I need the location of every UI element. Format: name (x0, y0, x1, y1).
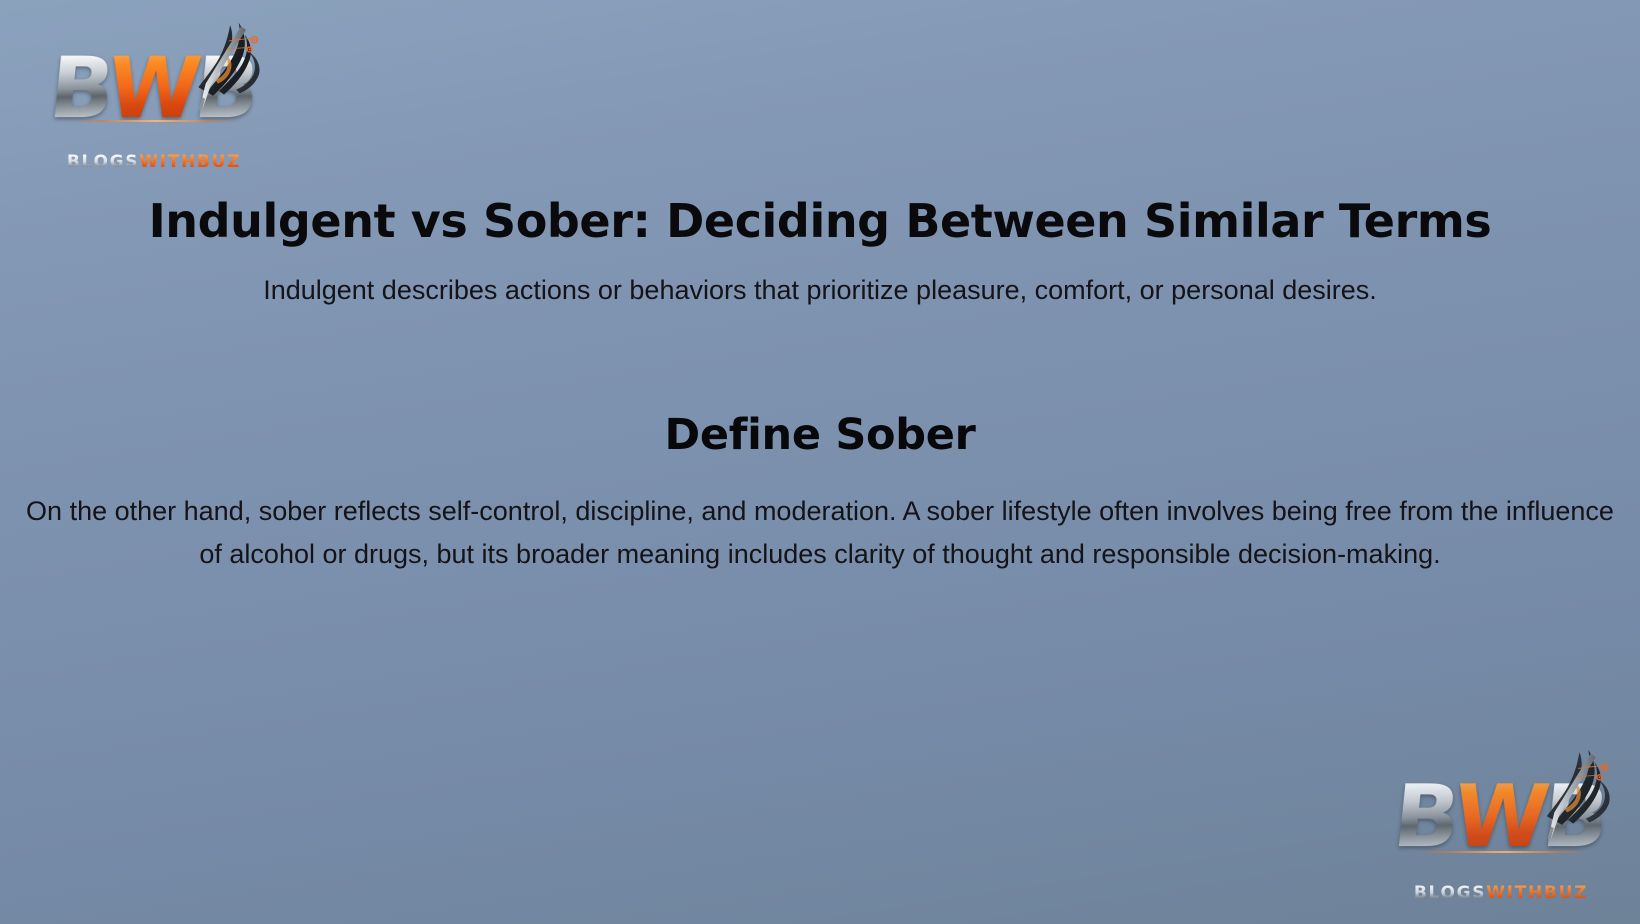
page-subtitle: Indulgent describes actions or behaviors… (70, 272, 1570, 308)
watermark-wordmark-withbuz: WITHBUZ (1486, 885, 1588, 902)
bwb-wordmark: BLOGSWITHBUZ (46, 147, 262, 178)
watermark-wordmark-blogs: BLOGS (1414, 885, 1486, 902)
section-body-text: On the other hand, sober reflects self-c… (18, 490, 1622, 575)
wordmark-blogs: BLOGS (67, 154, 139, 171)
bwb-watermark-wordmark: BLOGSWITHBUZ (1390, 878, 1612, 910)
bwb-watermark-logo: B W B (1390, 764, 1612, 910)
wordmark-withbuz: WITHBUZ (139, 154, 241, 171)
page-title: Indulgent vs Sober: Deciding Between Sim… (0, 196, 1640, 247)
section-heading: Define Sober (0, 412, 1640, 459)
bwb-logo-mark: B W B (46, 36, 262, 144)
quill-feather-icon (145, 19, 301, 123)
bwb-logo: B W B (46, 36, 262, 178)
slide-canvas: B W B (0, 0, 1640, 924)
quill-feather-icon (1492, 746, 1640, 853)
bwb-watermark-mark: B W B (1390, 764, 1612, 875)
